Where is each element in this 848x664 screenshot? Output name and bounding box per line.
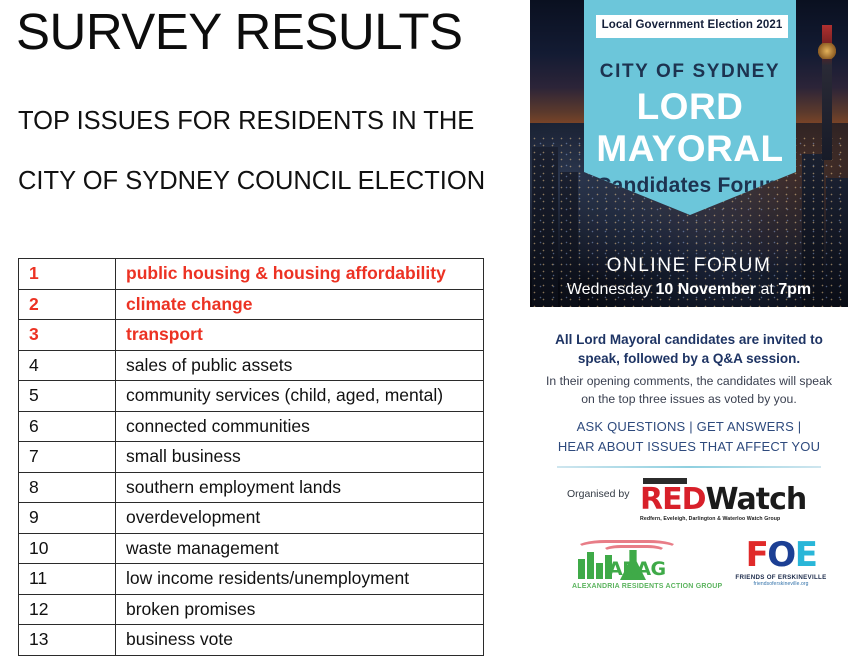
issue-cell: community services (child, aged, mental) <box>116 381 484 412</box>
poster-body: All Lord Mayoral candidates are invited … <box>530 307 848 664</box>
foe-logo: F O E FRIENDS OF ERSKINEVILLE friendsofe… <box>726 538 836 587</box>
issue-cell: small business <box>116 442 484 473</box>
rank-cell: 7 <box>19 442 116 473</box>
arag-factory-icon: ARAG <box>572 540 692 582</box>
call-to-action-text: ASK QUESTIONS | GET ANSWERS | HEAR ABOUT… <box>544 417 834 457</box>
page-subtitle-line2: CITY OF SYDNEY COUNCIL ELECTION <box>18 167 485 196</box>
event-poster-panel: Local Government Election 2021 CITY OF S… <box>530 0 848 664</box>
table-row: 5 community services (child, aged, menta… <box>19 381 484 412</box>
election-chip: Local Government Election 2021 <box>596 15 788 38</box>
survey-results-panel: SURVEY RESULTS TOP ISSUES FOR RESIDENTS … <box>0 0 530 664</box>
forum-datetime: Wednesday 10 November at 7pm <box>530 282 848 298</box>
issue-cell: overdevelopment <box>116 503 484 534</box>
when-time: 7pm <box>778 281 811 298</box>
foe-o-letter: O <box>767 538 794 572</box>
rank-cell: 11 <box>19 564 116 595</box>
arag-logo: ARAG ALEXANDRIA RESIDENTS ACTION GROUP <box>572 540 732 590</box>
sydney-tower-icon <box>822 25 832 160</box>
foe-wordmark: F O E <box>726 538 836 572</box>
issue-cell: broken promises <box>116 594 484 625</box>
teal-pennant-banner: Local Government Election 2021 CITY OF S… <box>584 0 796 215</box>
mayoral-heading: MAYORAL <box>584 130 796 167</box>
rank-cell: 13 <box>19 625 116 656</box>
page-title: SURVEY RESULTS <box>16 4 463 59</box>
issue-cell: climate change <box>116 289 484 320</box>
redwatch-watch-text: Watch <box>706 485 807 515</box>
online-forum-label: ONLINE FORUM <box>530 256 848 275</box>
table-row: 4 sales of public assets <box>19 350 484 381</box>
table-row: 13 business vote <box>19 625 484 656</box>
rank-cell: 8 <box>19 472 116 503</box>
issue-cell: sales of public assets <box>116 350 484 381</box>
rank-cell: 3 <box>19 320 116 351</box>
survey-table-body: 1 public housing & housing affordability… <box>19 259 484 656</box>
survey-results-table: 1 public housing & housing affordability… <box>18 258 484 656</box>
table-row: 7 small business <box>19 442 484 473</box>
arag-wordmark: ARAG <box>608 560 666 579</box>
city-of-sydney-label: CITY OF SYDNEY <box>584 62 796 81</box>
when-mid: at <box>756 281 778 298</box>
issue-cell: southern employment lands <box>116 472 484 503</box>
survey-results-poster: SURVEY RESULTS TOP ISSUES FOR RESIDENTS … <box>0 0 848 664</box>
issue-cell: public housing & housing affordability <box>116 259 484 290</box>
rank-cell: 9 <box>19 503 116 534</box>
section-divider <box>557 466 821 468</box>
rank-cell: 6 <box>19 411 116 442</box>
cta-line2: HEAR ABOUT ISSUES THAT AFFECT YOU <box>544 437 834 457</box>
rank-cell: 12 <box>19 594 116 625</box>
table-row: 2 climate change <box>19 289 484 320</box>
rank-cell: 10 <box>19 533 116 564</box>
page-subtitle-line1: TOP ISSUES FOR RESIDENTS IN THE <box>18 107 474 136</box>
when-date: 10 November <box>656 281 757 298</box>
issue-cell: waste management <box>116 533 484 564</box>
issue-cell: business vote <box>116 625 484 656</box>
rank-cell: 5 <box>19 381 116 412</box>
table-row: 3 transport <box>19 320 484 351</box>
issue-cell: connected communities <box>116 411 484 442</box>
table-row: 10 waste management <box>19 533 484 564</box>
table-row: 1 public housing & housing affordability <box>19 259 484 290</box>
invite-text: All Lord Mayoral candidates are invited … <box>544 330 834 368</box>
issue-cell: low income residents/unemployment <box>116 564 484 595</box>
table-row: 11 low income residents/unemployment <box>19 564 484 595</box>
redwatch-logo: RED Watch Redfern, Eveleigh, Darlington … <box>640 478 775 522</box>
redwatch-red-text: RED <box>640 485 706 515</box>
sydney-skyline-photo: Local Government Election 2021 CITY OF S… <box>530 0 848 307</box>
foe-url: friendsoferskineville.org <box>726 581 836 587</box>
rank-cell: 4 <box>19 350 116 381</box>
table-row: 9 overdevelopment <box>19 503 484 534</box>
organised-by-label: Organised by <box>567 489 629 500</box>
rank-cell: 1 <box>19 259 116 290</box>
table-row: 12 broken promises <box>19 594 484 625</box>
table-row: 8 southern employment lands <box>19 472 484 503</box>
redwatch-wordmark: RED Watch <box>640 485 775 515</box>
foe-e-letter: E <box>795 538 817 572</box>
opening-comments-text: In their opening comments, the candidate… <box>546 373 832 408</box>
foe-tagline: FRIENDS OF ERSKINEVILLE <box>726 574 836 581</box>
when-prefix: Wednesday <box>567 281 656 298</box>
table-row: 6 connected communities <box>19 411 484 442</box>
cta-line1: ASK QUESTIONS | GET ANSWERS | <box>544 417 834 437</box>
lord-heading: LORD <box>584 88 796 125</box>
redwatch-tagline: Redfern, Eveleigh, Darlington & Waterloo… <box>640 517 775 522</box>
arag-chimneys-icon <box>578 552 612 579</box>
rank-cell: 2 <box>19 289 116 320</box>
foe-f-letter: F <box>746 538 768 572</box>
arag-tagline: ALEXANDRIA RESIDENTS ACTION GROUP <box>572 583 732 590</box>
issue-cell: transport <box>116 320 484 351</box>
